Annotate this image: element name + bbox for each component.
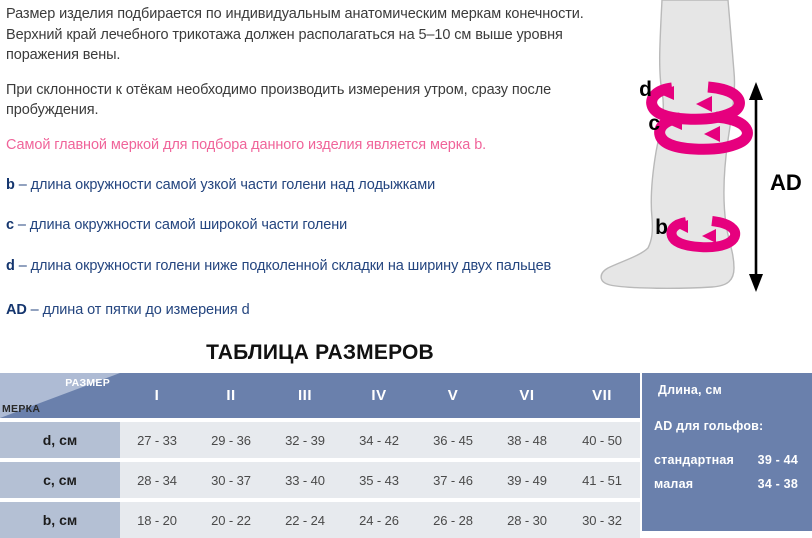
table-row: с, см 28 - 34 30 - 37 33 - 40 35 - 43 37… xyxy=(0,462,640,498)
intro-paragraph-1: Размер изделия подбирается по индивидуал… xyxy=(6,4,590,66)
cell-d-2: 29 - 36 xyxy=(194,422,268,458)
definition-c: c – длина окружности самой широкой части… xyxy=(6,215,590,236)
cell-b-6: 28 - 30 xyxy=(490,502,564,538)
table-corner-cell: РАЗМЕР МЕРКА xyxy=(0,373,120,418)
definition-ad-text: длина от пятки до измерения d xyxy=(43,302,250,318)
length-row-standard-label: стандартная xyxy=(654,453,734,467)
corner-measure-label: МЕРКА xyxy=(2,403,40,415)
table-header-row: РАЗМЕР МЕРКА I II III IV V VI VII xyxy=(0,373,640,418)
instructions-column: Размер изделия подбирается по индивидуал… xyxy=(6,4,590,321)
size-table: РАЗМЕР МЕРКА I II III IV V VI VII d, см … xyxy=(0,373,640,538)
label-b: b xyxy=(655,216,668,239)
definition-ad: AD – длина от пятки до измерения d xyxy=(6,300,590,321)
corner-size-label: РАЗМЕР xyxy=(65,377,110,389)
cell-b-5: 26 - 28 xyxy=(416,502,490,538)
key-measurement-note: Самой главной меркой для подбора данного… xyxy=(6,135,590,155)
cell-b-4: 24 - 26 xyxy=(342,502,416,538)
label-d: d xyxy=(639,78,652,101)
cell-d-5: 36 - 45 xyxy=(416,422,490,458)
definition-b-key: b xyxy=(6,177,15,193)
cell-d-6: 38 - 48 xyxy=(490,422,564,458)
cell-c-1: 28 - 34 xyxy=(120,462,194,498)
definition-c-dash: – xyxy=(14,217,30,233)
cell-c-4: 35 - 43 xyxy=(342,462,416,498)
length-panel: Длина, см AD для гольфов: стандартная 39… xyxy=(642,373,812,531)
definition-b-text: длина окружности самой узкой части голен… xyxy=(31,177,436,193)
definition-c-key: c xyxy=(6,217,14,233)
label-c: c xyxy=(648,112,660,135)
cell-d-4: 34 - 42 xyxy=(342,422,416,458)
intro-paragraph-2: При склонности к отёкам необходимо произ… xyxy=(6,80,590,121)
cell-b-1: 18 - 20 xyxy=(120,502,194,538)
definition-b-dash: – xyxy=(15,177,31,193)
length-row-small-value: 34 - 38 xyxy=(758,477,798,491)
column-header-7: VII xyxy=(564,373,640,418)
cell-d-7: 40 - 50 xyxy=(564,422,640,458)
length-row-standard: стандартная 39 - 44 xyxy=(642,453,812,467)
cell-b-7: 30 - 32 xyxy=(564,502,640,538)
column-header-3: III xyxy=(268,373,342,418)
length-panel-subtitle: AD для гольфов: xyxy=(642,419,812,433)
row-label-d: d, см xyxy=(0,422,120,458)
column-header-6: VI xyxy=(490,373,564,418)
cell-c-2: 30 - 37 xyxy=(194,462,268,498)
definition-d: d – длина окружности голени ниже подколе… xyxy=(6,256,590,277)
table-row: d, см 27 - 33 29 - 36 32 - 39 34 - 42 36… xyxy=(0,422,640,458)
cell-c-5: 37 - 46 xyxy=(416,462,490,498)
definition-ad-key: AD xyxy=(6,302,27,318)
ad-dimension-arrow: AD xyxy=(749,82,802,292)
definition-d-key: d xyxy=(6,258,15,274)
column-header-1: I xyxy=(120,373,194,418)
length-panel-title: Длина, см xyxy=(642,383,812,397)
row-label-b: b, см xyxy=(0,502,120,538)
length-row-small-label: малая xyxy=(654,477,693,491)
table-row: b, см 18 - 20 20 - 22 22 - 24 24 - 26 26… xyxy=(0,502,640,538)
cell-b-3: 22 - 24 xyxy=(268,502,342,538)
sizing-guide-page: Размер изделия подбирается по индивидуал… xyxy=(0,0,812,531)
cell-c-7: 41 - 51 xyxy=(564,462,640,498)
column-header-5: V xyxy=(416,373,490,418)
column-header-2: II xyxy=(194,373,268,418)
cell-d-1: 27 - 33 xyxy=(120,422,194,458)
definition-c-text: длина окружности самой широкой части гол… xyxy=(30,217,347,233)
length-row-standard-value: 39 - 44 xyxy=(758,453,798,467)
definition-b: b – длина окружности самой узкой части г… xyxy=(6,175,590,196)
definition-ad-dash: – xyxy=(27,302,43,318)
definition-d-dash: – xyxy=(15,258,31,274)
cell-c-3: 33 - 40 xyxy=(268,462,342,498)
length-row-small: малая 34 - 38 xyxy=(642,477,812,491)
ad-label: AD xyxy=(770,170,802,195)
page-title: ТАБЛИЦА РАЗМЕРОВ xyxy=(0,341,640,365)
leg-measurement-diagram: AD d c b xyxy=(600,0,812,330)
row-label-c: с, см xyxy=(0,462,120,498)
cell-c-6: 39 - 49 xyxy=(490,462,564,498)
column-header-4: IV xyxy=(342,373,416,418)
definition-d-text: длина окружности голени ниже подколенной… xyxy=(31,258,552,274)
cell-d-3: 32 - 39 xyxy=(268,422,342,458)
cell-b-2: 20 - 22 xyxy=(194,502,268,538)
